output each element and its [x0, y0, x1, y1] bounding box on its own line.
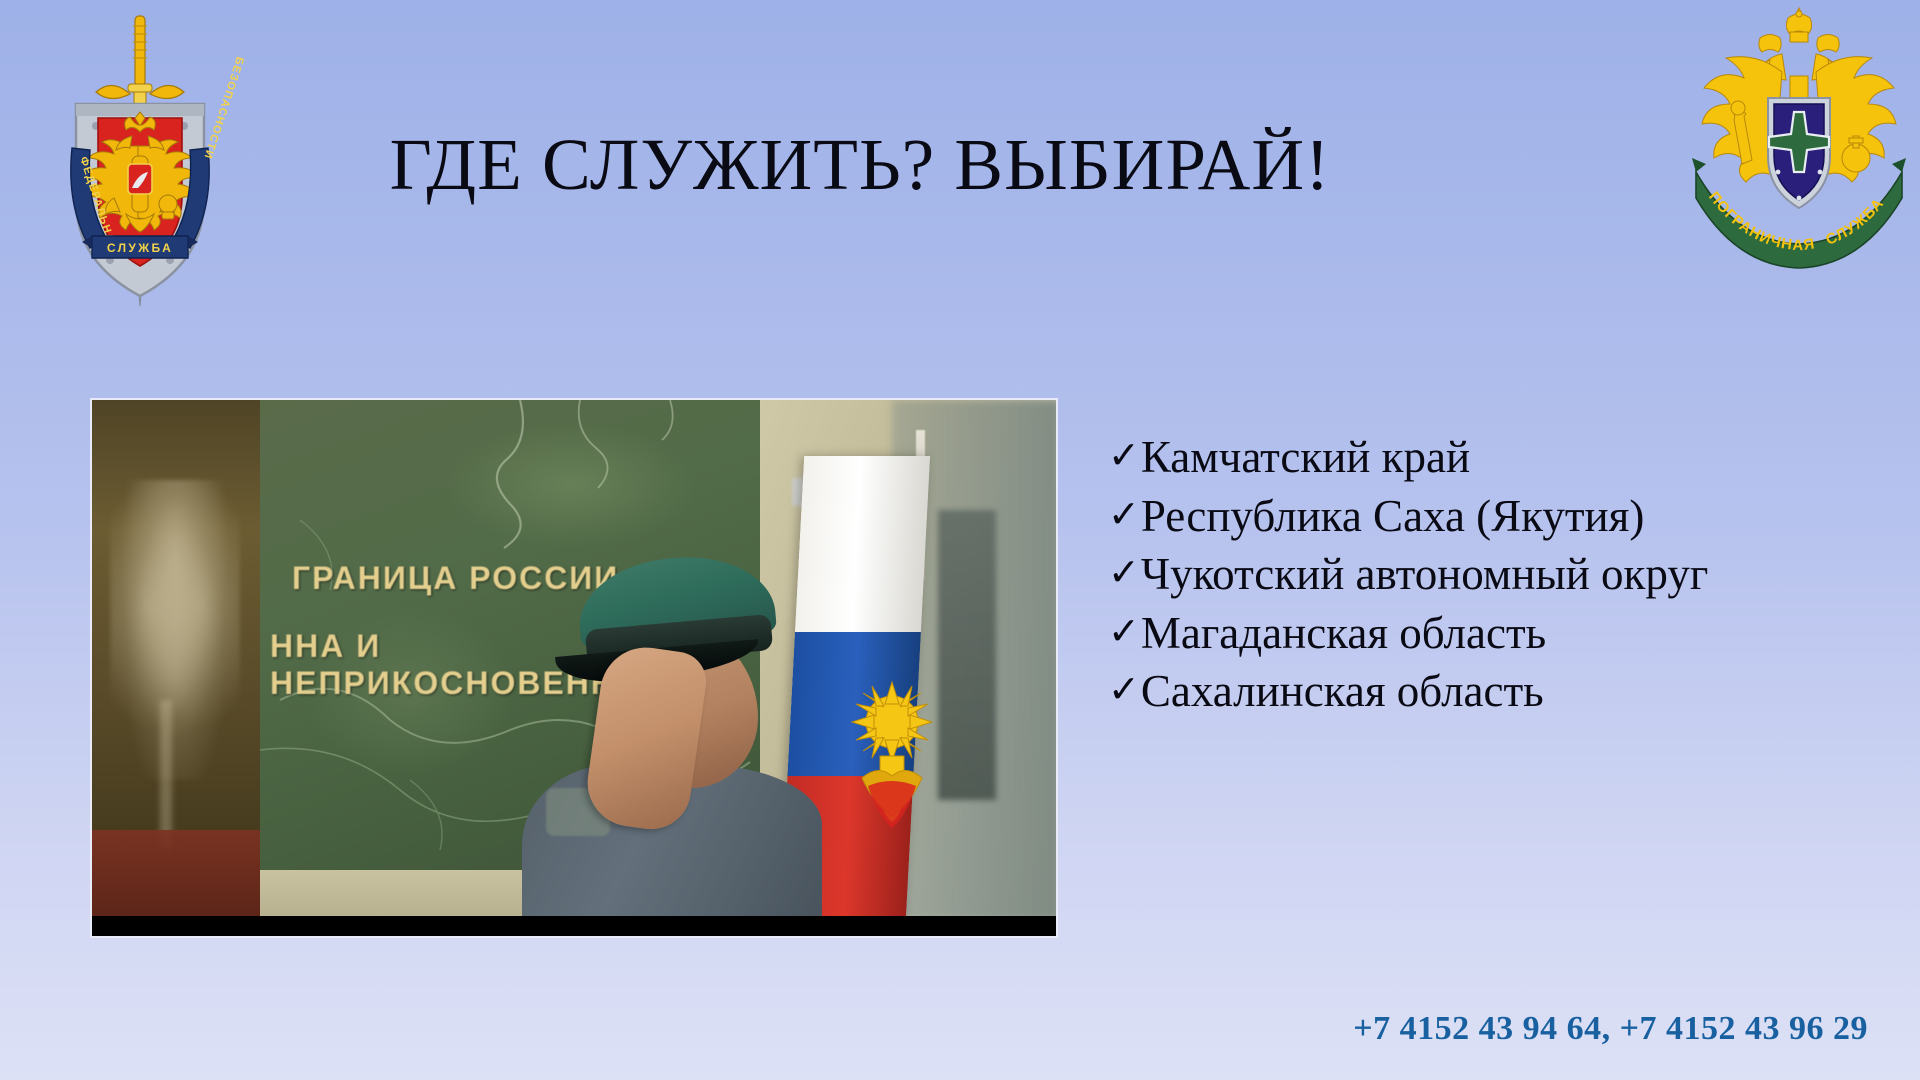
checkmark-icon: ✓: [1108, 604, 1140, 659]
photo-wall-plaque: [92, 400, 260, 920]
svg-text:СЛУЖБА: СЛУЖБА: [107, 241, 173, 255]
list-item[interactable]: ✓ Чукотский автономный округ: [1108, 545, 1898, 604]
photo-plaque-emblem: [110, 480, 240, 780]
photo-soldier: [512, 550, 872, 920]
list-item[interactable]: ✓ Республика Саха (Якутия): [1108, 487, 1898, 546]
border-guard-saluting-photo[interactable]: ГРАНИЦА РОССИИ ННА И НЕПРИКОСНОВЕННА!: [90, 398, 1058, 938]
list-item-label: Сахалинская область: [1141, 662, 1544, 721]
regions-list: ✓ Камчатский край ✓ Республика Саха (Яку…: [1108, 428, 1898, 721]
photo-plaque-red-band: [92, 830, 260, 920]
list-item[interactable]: ✓ Магаданская область: [1108, 604, 1898, 663]
photo-content: ГРАНИЦА РОССИИ ННА И НЕПРИКОСНОВЕННА!: [92, 400, 1058, 920]
checkmark-icon: ✓: [1108, 487, 1140, 542]
contact-phone-numbers[interactable]: +7 4152 43 94 64, +7 4152 43 96 29: [0, 1010, 1868, 1048]
checkmark-icon: ✓: [1108, 428, 1140, 483]
list-item[interactable]: ✓ Камчатский край: [1108, 428, 1898, 487]
border-service-emblem: ПОГРАНИЧНАЯ СЛУЖБА: [1690, 2, 1908, 242]
checkmark-icon: ✓: [1108, 545, 1140, 600]
fsb-ribbon-bottom: СЛУЖБА: [82, 236, 198, 258]
list-item-label: Республика Саха (Якутия): [1141, 487, 1644, 546]
photo-plaque-stem: [160, 700, 172, 850]
checkmark-icon: ✓: [1108, 662, 1140, 717]
fsb-emblem: ФЕДЕРАЛЬНАЯ БЕЗОПАСНОСТИ СЛУЖБА: [40, 8, 240, 323]
svg-text:БЕЗОПАСНОСТИ: БЕЗОПАСНОСТИ: [201, 55, 246, 161]
page-title: ГДЕ СЛУЖИТЬ? ВЫБИРАЙ!: [300, 128, 1420, 201]
list-item[interactable]: ✓ Сахалинская область: [1108, 662, 1898, 721]
photo-bottom-black-bar: [92, 916, 1058, 936]
list-item-label: Чукотский автономный округ: [1141, 545, 1708, 604]
list-item-label: Камчатский край: [1141, 428, 1470, 487]
list-item-label: Магаданская область: [1141, 604, 1546, 663]
